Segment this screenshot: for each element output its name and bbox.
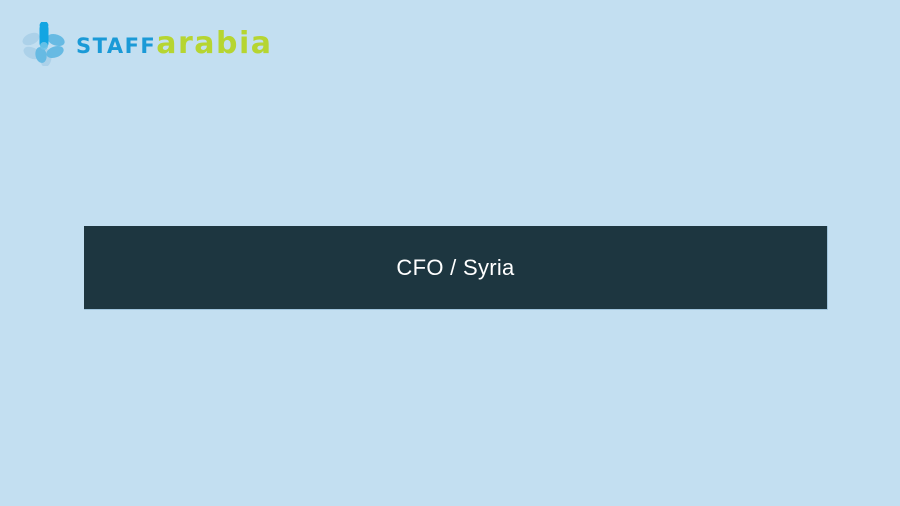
title-banner: CFO / Syria <box>84 226 828 310</box>
brand-logo: staffarabia <box>22 20 273 68</box>
brand-wordmark: staffarabia <box>76 29 273 59</box>
brand-wordmark-arabia: arabia <box>156 29 272 59</box>
staffarabia-pinwheel-icon <box>22 22 66 66</box>
brand-wordmark-staff: staff <box>76 29 156 59</box>
banner-title: CFO / Syria <box>396 255 514 281</box>
slide-canvas: staffarabia CFO / Syria <box>0 0 900 506</box>
